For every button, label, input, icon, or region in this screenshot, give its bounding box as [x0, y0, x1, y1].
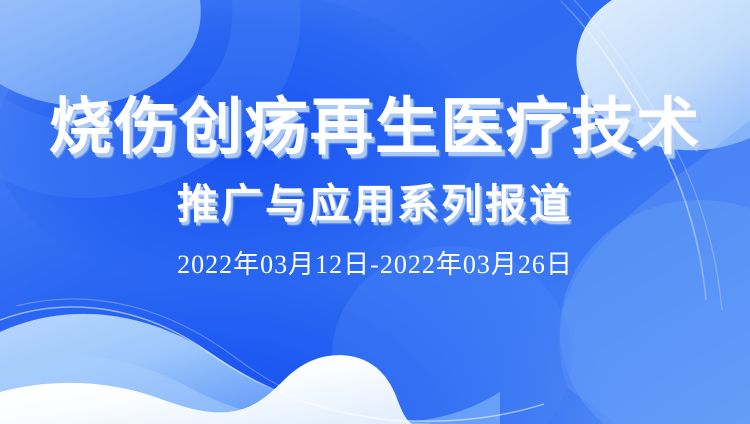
page-title: 烧伤创疡再生医疗技术 [49, 96, 702, 158]
promo-banner: 烧伤创疡再生医疗技术 推广与应用系列报道 2022年03月12日-2022年03… [0, 0, 750, 424]
page-subtitle: 推广与应用系列报道 [177, 184, 573, 225]
banner-text-stack: 烧伤创疡再生医疗技术 推广与应用系列报道 2022年03月12日-2022年03… [0, 0, 750, 424]
date-range-label: 2022年03月12日-2022年03月26日 [177, 252, 573, 278]
